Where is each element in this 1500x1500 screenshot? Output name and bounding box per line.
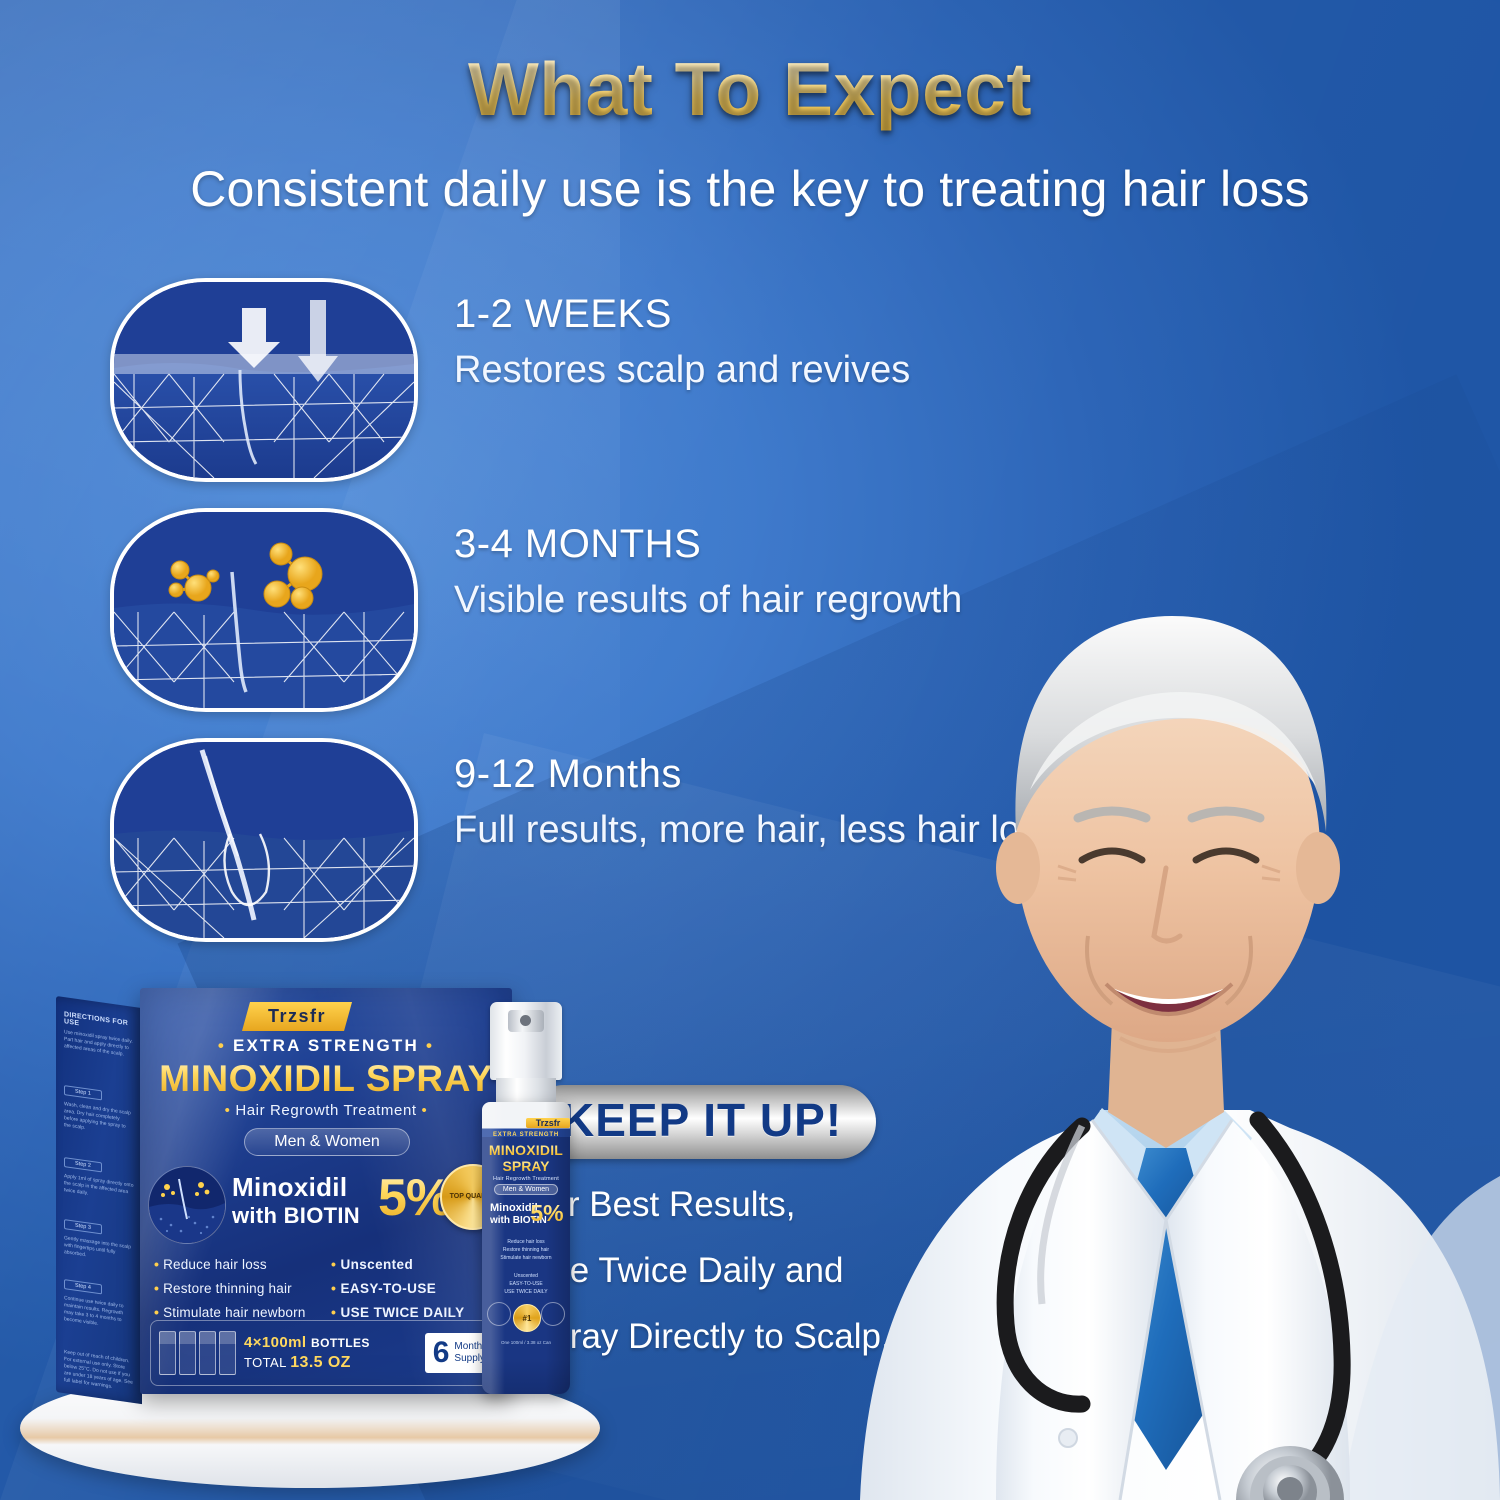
bullet-dot-icon: •	[218, 1036, 226, 1055]
period-after-opening-icon	[541, 1302, 565, 1326]
directions-step-text: Continue use twice daily to maintain res…	[64, 1295, 134, 1333]
bottle-neck	[496, 1078, 556, 1104]
benefit-item: • Stimulate hair newborn	[154, 1304, 321, 1320]
bullet-dot-icon: •	[426, 1036, 434, 1055]
benefit-item: • USE TWICE DAILY	[331, 1304, 498, 1320]
bottle-benefits-right: Unscented EASY-TO-USE USE TWICE DAILY	[482, 1272, 570, 1296]
active-ingredient-secondary: with BIOTIN	[232, 1203, 360, 1229]
benefit-text: Unscented	[340, 1257, 413, 1272]
bottle-concentration: 5%	[530, 1200, 564, 1227]
keep-it-up-label: KEEP IT UP!	[561, 1094, 842, 1146]
product-package: DIRECTIONS FOR USE Use minoxidil spray t…	[56, 988, 576, 1408]
product-tagline: • Hair Regrowth Treatment •	[140, 1102, 512, 1119]
bullet-dot-icon: •	[331, 1280, 336, 1296]
bottle-benefit: Unscented	[482, 1272, 570, 1280]
extra-strength-label: • EXTRA STRENGTH •	[140, 1036, 512, 1056]
bullet-dot-icon: •	[154, 1304, 159, 1320]
bottle-label: Trzsfr EXTRA STRENGTH MINOXIDIL SPRAY Ha…	[482, 1102, 570, 1394]
scalp-hair-growth-icon	[110, 738, 418, 942]
benefit-column-left: • Reduce hair loss • Restore thinning ha…	[154, 1256, 321, 1328]
bullet-dot-icon: •	[331, 1304, 336, 1320]
benefit-item: • Reduce hair loss	[154, 1256, 321, 1272]
total-line: TOTAL 13.5 OZ	[244, 1354, 425, 1372]
directions-step-text: Wash, clean and dry the scalp area. Dry …	[64, 1101, 134, 1139]
bottle-benefit: Stimulate hair newborn	[482, 1254, 570, 1262]
bottle-benefit: Restore thinning hair	[482, 1246, 570, 1254]
doctor-photo	[820, 320, 1500, 1500]
directions-step-label: Step 2	[64, 1157, 102, 1172]
active-ingredient-name: Minoxidil	[232, 1172, 360, 1203]
directions-intro: Use minoxidil spray twice daily. Part ha…	[64, 1029, 134, 1060]
nozzle-hole-icon	[520, 1015, 531, 1026]
number-one-badge-icon: #1	[513, 1304, 541, 1332]
bullet-dot-icon: •	[154, 1280, 159, 1296]
scalp-molecules-icon	[110, 508, 418, 712]
directions-step-text: Gently massage into the scalp with finge…	[64, 1235, 134, 1266]
active-ingredient-block: Minoxidil with BIOTIN	[232, 1172, 360, 1229]
product-tagline-text: Hair Regrowth Treatment	[235, 1102, 416, 1119]
directions-step-text: Apply 1ml of spray directly onto the sca…	[64, 1173, 134, 1204]
benefit-text: Restore thinning hair	[163, 1281, 292, 1296]
bottle-benefit: Reduce hair loss	[482, 1238, 570, 1246]
directions-step-label: Step 3	[64, 1219, 102, 1234]
benefit-item: • EASY-TO-USE	[331, 1280, 498, 1296]
spray-bottle: Trzsfr EXTRA STRENGTH MINOXIDIL SPRAY Ha…	[474, 1002, 578, 1394]
bottle-benefit: USE TWICE DAILY	[482, 1288, 570, 1296]
follicle-diagram-icon	[148, 1166, 226, 1244]
bottle-benefit: EASY-TO-USE	[482, 1280, 570, 1288]
bottle-brand: Trzsfr	[526, 1118, 570, 1128]
directions-step-label: Step 1	[64, 1085, 102, 1100]
bottle-title-line1: MINOXIDIL	[482, 1142, 570, 1158]
brand-logo: Trzsfr	[242, 1002, 352, 1031]
mini-bottle-icon	[199, 1331, 216, 1375]
benefit-text: USE TWICE DAILY	[340, 1305, 464, 1320]
extra-strength-text: EXTRA STRENGTH	[233, 1036, 419, 1055]
page-title: What To Expect	[0, 46, 1500, 132]
bottle-tagline: Hair Regrowth Treatment	[482, 1176, 570, 1182]
supply-number: 6	[433, 1338, 450, 1368]
total-value: 13.5 OZ	[290, 1354, 351, 1371]
page-subtitle: Consistent daily use is the key to treat…	[0, 160, 1500, 218]
directions-footer: Keep out of reach of children. For exter…	[64, 1349, 134, 1394]
bullet-dot-icon: •	[331, 1256, 336, 1272]
product-title: MINOXIDIL SPRAY	[140, 1058, 512, 1100]
audience-badge: Men & Women	[244, 1128, 410, 1156]
bullet-dot-icon: •	[421, 1102, 427, 1119]
benefit-text: Stimulate hair newborn	[163, 1305, 305, 1320]
quantity-value: 4×100ml	[244, 1334, 306, 1351]
bottle-benefits-left: Reduce hair loss Restore thinning hair S…	[482, 1238, 570, 1262]
infographic-canvas: What To Expect Consistent daily use is t…	[0, 0, 1500, 1500]
total-label: TOTAL	[244, 1355, 286, 1370]
scalp-absorption-icon	[110, 278, 418, 482]
recycle-icon	[487, 1302, 511, 1326]
quantity-block: 4×100ml BOTTLES TOTAL 13.5 OZ	[244, 1334, 425, 1372]
mini-bottle-icon	[219, 1331, 236, 1375]
bottle-audience-text: Men & Women	[494, 1184, 558, 1195]
bullet-dot-icon: •	[225, 1102, 231, 1119]
package-front-panel: Trzsfr • EXTRA STRENGTH • MINOXIDIL SPRA…	[140, 988, 512, 1394]
bottle-volume-text: One 100ml / 3.38 oz Can	[482, 1340, 570, 1345]
package-quantity-band: 4×100ml BOTTLES TOTAL 13.5 OZ 6 Month Su…	[150, 1320, 502, 1386]
benefit-item: • Restore thinning hair	[154, 1280, 321, 1296]
benefit-list: • Reduce hair loss • Restore thinning ha…	[154, 1256, 498, 1328]
benefit-text: EASY-TO-USE	[340, 1281, 436, 1296]
bottle-extra-strength: EXTRA STRENGTH	[482, 1132, 570, 1138]
package-side-panel: DIRECTIONS FOR USE Use minoxidil spray t…	[56, 996, 142, 1404]
bottle-count-icon	[159, 1331, 236, 1375]
quantity-line: 4×100ml BOTTLES	[244, 1334, 425, 1351]
mini-bottle-icon	[179, 1331, 196, 1375]
benefit-text: Reduce hair loss	[163, 1257, 267, 1272]
mini-bottle-icon	[159, 1331, 176, 1375]
quantity-unit: BOTTLES	[311, 1336, 370, 1350]
bullet-dot-icon: •	[154, 1256, 159, 1272]
benefit-item: • Unscented	[331, 1256, 498, 1272]
bottle-audience: Men & Women	[482, 1186, 570, 1193]
bottle-title-line2: SPRAY	[482, 1158, 570, 1174]
benefit-column-right: • Unscented • EASY-TO-USE • USE TWICE DA…	[331, 1256, 498, 1328]
directions-step-label: Step 4	[64, 1279, 102, 1294]
